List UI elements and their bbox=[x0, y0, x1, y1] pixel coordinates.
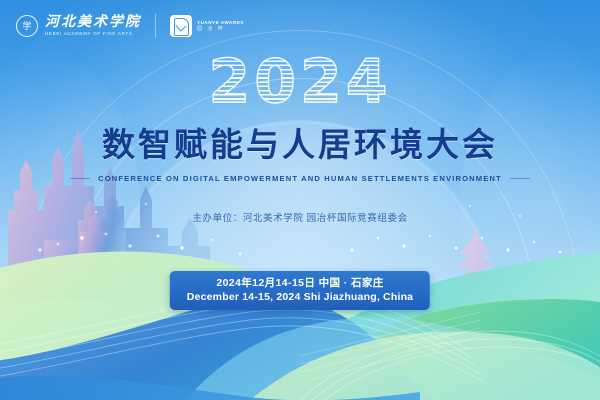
hill-cyan-overlay bbox=[186, 318, 600, 400]
date-location-en: December 14-15, 2024 Shi Jiazhuang, Chin… bbox=[187, 290, 413, 304]
pagoda-light-streaks bbox=[300, 312, 484, 380]
hill-green-right bbox=[286, 299, 600, 400]
chinese-pagoda-silhouette bbox=[450, 226, 502, 356]
date-location-badge: 2024年12月14-15日 中国 · 石家庄 December 14-15, … bbox=[170, 271, 430, 310]
title-block: 数智赋能与人居环境大会 CONFERENCE ON DIGITAL EMPOWE… bbox=[0, 126, 600, 224]
yuanye-award-icon bbox=[170, 15, 192, 37]
university-logo: 学 河北美术学院 HEBEI ACADEMY OF FINE ARTS bbox=[16, 15, 141, 37]
date-location-cn: 2024年12月14-15日 中国 · 石家庄 bbox=[187, 276, 413, 290]
award-name-en: YUANYE AWARDS bbox=[197, 20, 244, 26]
university-name-en: HEBEI ACADEMY OF FINE ARTS bbox=[45, 32, 141, 36]
award-logo: YUANYE AWARDS 园 冶 杯 bbox=[170, 15, 244, 37]
conference-title-en-row: CONFERENCE ON DIGITAL EMPOWERMENT AND HU… bbox=[0, 174, 600, 183]
hill-blue-center bbox=[0, 296, 430, 400]
hill-light-green-front bbox=[250, 332, 600, 400]
castle-secondary-block bbox=[78, 226, 112, 300]
chinese-gate-silhouette bbox=[488, 306, 594, 386]
header-divider bbox=[155, 14, 156, 38]
year-text: 2024 bbox=[209, 52, 392, 112]
banner-header: 学 河北美术学院 HEBEI ACADEMY OF FINE ARTS YUAN… bbox=[0, 0, 600, 52]
conference-title-en: CONFERENCE ON DIGITAL EMPOWERMENT AND HU… bbox=[98, 174, 502, 183]
university-seal-icon: 学 bbox=[16, 15, 38, 37]
wave-front-blue bbox=[0, 376, 420, 400]
title-rule-left bbox=[70, 178, 90, 179]
title-rule-right bbox=[510, 178, 530, 179]
university-name-cn: 河北美术学院 bbox=[45, 16, 141, 30]
conference-title-cn: 数智赋能与人居环境大会 bbox=[0, 126, 600, 164]
organizer-line: 主办单位：河北美术学院 园冶杯国际竞赛组委会 bbox=[0, 210, 600, 224]
award-name-cn: 园 冶 杯 bbox=[197, 27, 244, 32]
year-display: 2024 bbox=[0, 52, 600, 112]
conference-banner: 学 河北美术学院 HEBEI ACADEMY OF FINE ARTS YUAN… bbox=[0, 0, 600, 400]
